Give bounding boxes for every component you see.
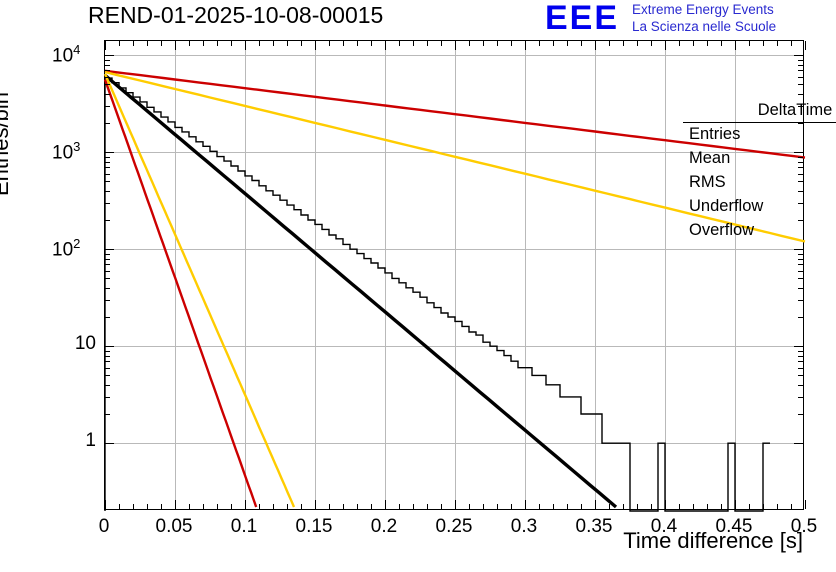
axis-tick: [175, 41, 176, 50]
axis-tick: [273, 41, 274, 46]
axis-tick: [133, 41, 134, 46]
axis-tick: [735, 41, 736, 50]
axis-tick: [105, 106, 110, 107]
x-tick-label: 0.1: [231, 516, 257, 538]
axis-tick: [105, 157, 110, 158]
axis-tick: [231, 504, 232, 509]
axis-tick: [798, 356, 803, 357]
axis-tick: [609, 41, 610, 46]
series-path: [105, 75, 616, 507]
axis-tick: [469, 504, 470, 509]
x-tick-label: 0.15: [296, 516, 333, 538]
axis-tick: [105, 346, 114, 347]
axis-tick: [798, 288, 803, 289]
axis-tick: [567, 504, 568, 509]
axis-tick: [798, 300, 803, 301]
axis-tick: [301, 41, 302, 46]
eee-logo-line1: Extreme Energy Events: [632, 2, 774, 17]
axis-tick: [105, 356, 110, 357]
axis-tick: [539, 41, 540, 46]
axis-tick: [203, 41, 204, 46]
axis-tick: [483, 41, 484, 46]
axis-tick: [777, 41, 778, 46]
axis-tick: [798, 70, 803, 71]
axis-tick: [511, 504, 512, 509]
x-tick-label: 0.25: [436, 516, 473, 538]
eee-logo-mark: EEE: [545, 0, 619, 38]
axis-tick: [798, 77, 803, 78]
axis-tick: [483, 504, 484, 509]
axis-tick: [371, 504, 372, 509]
axis-tick: [798, 65, 803, 66]
axis-tick: [581, 504, 582, 509]
axis-tick: [105, 152, 114, 153]
axis-tick: [581, 41, 582, 46]
y-tick-label: 1: [46, 430, 96, 452]
axis-tick: [455, 41, 456, 50]
axis-tick: [301, 504, 302, 509]
axis-tick: [231, 41, 232, 46]
x-tick-label: 0: [99, 516, 110, 538]
axis-tick: [399, 504, 400, 509]
axis-tick: [623, 504, 624, 509]
axis-tick: [763, 41, 764, 46]
axis-tick: [315, 500, 316, 509]
axis-tick: [651, 504, 652, 509]
axis-tick: [105, 271, 110, 272]
axis-tick: [525, 500, 526, 509]
axis-tick: [105, 41, 106, 50]
axis-tick: [105, 300, 110, 301]
stats-title: DeltaTime: [683, 101, 836, 123]
x-axis-title: Time difference [s]: [623, 528, 803, 554]
axis-tick: [343, 504, 344, 509]
x-tick-label: 0.05: [156, 516, 193, 538]
axis-tick: [798, 368, 803, 369]
axis-tick: [105, 84, 110, 85]
axis-tick: [798, 271, 803, 272]
plot-frame: DeltaTime Entries44445Mean0.03464RMS0.03…: [104, 40, 804, 510]
axis-tick: [357, 41, 358, 46]
page-title: REND-01-2025-10-08-00015: [88, 2, 383, 29]
axis-tick: [273, 504, 274, 509]
axis-tick: [105, 123, 110, 124]
axis-tick: [189, 504, 190, 509]
axis-tick: [217, 41, 218, 46]
axis-tick: [798, 351, 803, 352]
axis-tick: [105, 55, 114, 56]
axis-tick: [798, 259, 803, 260]
axis-tick: [105, 220, 110, 221]
axis-tick: [105, 174, 110, 175]
axis-tick: [161, 41, 162, 46]
axis-tick: [147, 41, 148, 46]
axis-tick: [105, 278, 110, 279]
axis-tick: [623, 41, 624, 46]
stats-box: DeltaTime Entries44445Mean0.03464RMS0.03…: [683, 101, 836, 251]
y-tick-label: 10: [46, 333, 96, 355]
axis-tick: [287, 41, 288, 46]
eee-logo: EEE Extreme Energy Events La Scienza nel…: [545, 2, 835, 40]
axis-tick: [798, 60, 803, 61]
axis-tick: [105, 288, 110, 289]
axis-tick: [105, 77, 110, 78]
y-tick-label: 104: [52, 42, 80, 67]
axis-tick: [749, 41, 750, 46]
axis-tick: [105, 264, 110, 265]
axis-tick: [763, 504, 764, 509]
axis-tick: [105, 443, 114, 444]
stats-row-key: Mean: [689, 149, 730, 168]
axis-tick: [427, 41, 428, 46]
axis-tick: [553, 504, 554, 509]
axis-tick: [721, 504, 722, 509]
axis-tick: [133, 504, 134, 509]
axis-tick: [805, 41, 806, 50]
axis-tick: [679, 41, 680, 46]
axis-tick: [735, 500, 736, 509]
axis-tick: [665, 500, 666, 509]
axis-tick: [413, 41, 414, 46]
axis-tick: [707, 504, 708, 509]
axis-tick: [399, 41, 400, 46]
y-axis-title: Entries/bin: [0, 92, 14, 196]
axis-tick: [119, 504, 120, 509]
y-tick-label: 102: [52, 236, 80, 261]
axis-tick: [105, 191, 110, 192]
axis-tick: [105, 317, 110, 318]
axis-tick: [371, 41, 372, 46]
axis-tick: [798, 317, 803, 318]
axis-tick: [651, 41, 652, 46]
axis-tick: [245, 41, 246, 50]
axis-tick: [794, 55, 803, 56]
axis-tick: [161, 504, 162, 509]
axis-tick: [794, 443, 803, 444]
stats-row-key: Entries: [689, 125, 740, 144]
axis-tick: [798, 385, 803, 386]
axis-tick: [539, 504, 540, 509]
axis-tick: [595, 500, 596, 509]
axis-tick: [189, 41, 190, 46]
axis-tick: [203, 504, 204, 509]
axis-tick: [329, 41, 330, 46]
axis-tick: [798, 84, 803, 85]
x-tick-label: 0.35: [576, 516, 613, 538]
axis-tick: [794, 346, 803, 347]
axis-tick: [791, 41, 792, 46]
stats-row: Underflow4: [689, 197, 836, 219]
axis-tick: [315, 41, 316, 50]
axis-tick: [798, 254, 803, 255]
axis-tick: [105, 259, 110, 260]
axis-tick: [798, 264, 803, 265]
axis-tick: [455, 500, 456, 509]
stats-row: Overflow1: [689, 221, 836, 243]
y-tick-label: 103: [52, 139, 80, 164]
axis-tick: [665, 41, 666, 50]
axis-tick: [259, 504, 260, 509]
axis-tick: [427, 504, 428, 509]
axis-tick: [777, 504, 778, 509]
axis-tick: [105, 70, 110, 71]
axis-tick: [105, 375, 110, 376]
axis-tick: [287, 504, 288, 509]
axis-tick: [693, 41, 694, 46]
axis-tick: [105, 203, 110, 204]
axis-tick: [749, 504, 750, 509]
axis-tick: [147, 504, 148, 509]
axis-tick: [259, 41, 260, 46]
eee-logo-line2: La Scienza nelle Scuole: [632, 19, 776, 34]
axis-tick: [105, 351, 110, 352]
axis-tick: [343, 41, 344, 46]
axis-tick: [791, 504, 792, 509]
stats-row: Mean0.03464: [689, 149, 836, 171]
axis-tick: [105, 181, 110, 182]
axis-tick: [357, 504, 358, 509]
chart-page: REND-01-2025-10-08-00015 EEE Extreme Ene…: [0, 0, 836, 572]
axis-tick: [511, 41, 512, 46]
stats-row: Entries44445: [689, 125, 836, 147]
axis-tick: [105, 60, 110, 61]
series-path: [105, 78, 770, 511]
axis-tick: [567, 41, 568, 46]
axis-tick: [329, 504, 330, 509]
axis-tick: [609, 504, 610, 509]
axis-tick: [105, 361, 110, 362]
x-tick-label: 0.3: [511, 516, 537, 538]
axis-tick: [805, 500, 806, 509]
axis-tick: [105, 385, 110, 386]
axis-tick: [798, 361, 803, 362]
axis-tick: [175, 500, 176, 509]
axis-tick: [105, 162, 110, 163]
axis-tick: [105, 397, 110, 398]
stats-row-key: Underflow: [689, 197, 763, 216]
axis-tick: [637, 504, 638, 509]
stats-row-key: Overflow: [689, 221, 754, 240]
axis-tick: [441, 504, 442, 509]
axis-tick: [721, 41, 722, 46]
axis-tick: [105, 414, 110, 415]
axis-tick: [105, 249, 114, 250]
axis-tick: [105, 167, 110, 168]
x-tick-label: 0.2: [371, 516, 397, 538]
axis-tick: [693, 504, 694, 509]
axis-tick: [105, 368, 110, 369]
axis-tick: [595, 41, 596, 50]
axis-tick: [553, 41, 554, 46]
axis-tick: [441, 41, 442, 46]
axis-tick: [105, 254, 110, 255]
axis-tick: [105, 94, 110, 95]
stats-row-key: RMS: [689, 173, 726, 192]
axis-tick: [679, 504, 680, 509]
axis-tick: [798, 278, 803, 279]
axis-tick: [105, 65, 110, 66]
series-path: [105, 80, 256, 507]
axis-tick: [413, 504, 414, 509]
axis-tick: [469, 41, 470, 46]
axis-tick: [637, 41, 638, 46]
stats-row: RMS0.03493: [689, 173, 836, 195]
axis-tick: [497, 504, 498, 509]
axis-tick: [245, 500, 246, 509]
axis-tick: [798, 414, 803, 415]
axis-tick: [798, 94, 803, 95]
axis-tick: [798, 375, 803, 376]
axis-tick: [385, 41, 386, 50]
axis-tick: [798, 397, 803, 398]
axis-tick: [105, 500, 106, 509]
axis-tick: [217, 504, 218, 509]
axis-tick: [119, 41, 120, 46]
axis-tick: [497, 41, 498, 46]
axis-tick: [385, 500, 386, 509]
axis-tick: [525, 41, 526, 50]
series-path: [105, 74, 294, 507]
axis-tick: [707, 41, 708, 46]
